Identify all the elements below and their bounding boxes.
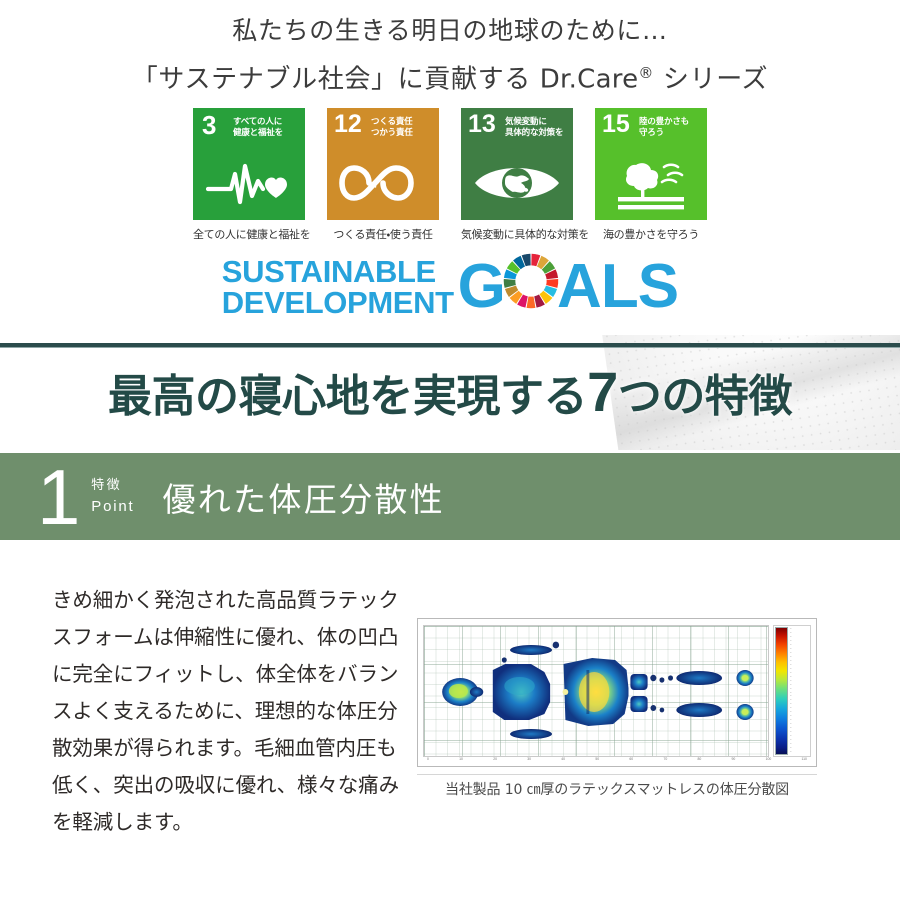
pressure-map-plot: [423, 625, 769, 757]
sdg-caption-15: 海の豊かさを守ろう: [595, 226, 707, 242]
heartbeat-icon: [193, 150, 305, 216]
tree-birds-icon: [595, 150, 707, 216]
sdg-number-13: 13: [468, 112, 496, 137]
sdg-wordmark-text: SUSTAINABLE DEVELOPMENT: [222, 256, 454, 318]
headline-band: 最高の寝心地を実現する7つの特徴: [0, 335, 900, 450]
headline-suffix: つの特徴: [618, 371, 792, 422]
sdg-tile-12: 12 つくる責任 つかう責任: [327, 108, 439, 220]
sdg-tile-3: 3 すべての人に 健康と福祉を: [193, 108, 305, 220]
header-tagline: 私たちの生きる明日の地球のために… 「サステナブル社会」に貢献する Dr.Car…: [0, 0, 900, 102]
sdg-tile-13: 13 気候変動に 具体的な対策を: [461, 108, 573, 220]
point-label-jp: 特徴: [91, 479, 134, 492]
sdg-wordmark-line-1: SUSTAINABLE: [222, 256, 454, 287]
headline-prefix: 最高の寝心地を実現する: [108, 371, 587, 422]
sdg-item-3: 3 すべての人に 健康と福祉を 全ての人に健康と福祉を: [193, 108, 305, 242]
pressure-map: ––––––––––––––––––––––––––––––––: [423, 625, 811, 757]
product-feature-page: 私たちの生きる明日の地球のために… 「サステナブル社会」に貢献する Dr.Car…: [0, 0, 900, 900]
point-banner: 1 特徴 Point 優れた体圧分散性: [0, 453, 900, 540]
sdg-wordmark: SUSTAINABLE DEVELOPMENT G ALS: [0, 252, 900, 321]
point-label-group: 特徴 Point: [91, 479, 134, 514]
sdg-title-13: 気候変動に 具体的な対策を: [505, 117, 563, 139]
page-headline: 最高の寝心地を実現する7つの特徴: [0, 361, 900, 428]
point-title: 優れた体圧分散性: [162, 473, 444, 521]
pressure-colorbar: ––––––––––––––––––––––––––––––––: [773, 625, 811, 757]
tagline-line-2-prefix: 「サステナブル社会」に貢献する: [132, 65, 540, 95]
sdg-caption-3: 全ての人に健康と福祉を: [193, 226, 305, 242]
colorbar-gradient: [775, 627, 788, 755]
sdg-item-15: 15 陸の豊かさも 守ろう 海の豊かさを: [595, 108, 707, 242]
eye-earth-icon: [461, 150, 573, 216]
headline-number: 7: [587, 360, 618, 423]
sdg-number-15: 15: [602, 112, 630, 137]
sdg-title-3: すべての人に 健康と福祉を: [233, 117, 283, 139]
point-number: 1: [37, 458, 77, 536]
sdg-icon-block: 3 すべての人に 健康と福祉を 全ての人に健康と福祉を 12 つくる責任 つかう…: [0, 108, 900, 242]
registered-trademark-icon: ®: [638, 64, 654, 82]
sdg-item-13: 13 気候変動に 具体的な対策を 気候変動に具体的な対策を: [461, 108, 573, 242]
sdg-item-12: 12 つくる責任 つかう責任 つくる責任・使う責任: [327, 108, 439, 242]
sdg-number-3: 3: [202, 112, 216, 138]
figure-caption: 当社製品 10 ㎝厚のラテックスマットレスの体圧分散図: [417, 774, 817, 804]
sdg-tile-15: 15 陸の豊かさも 守ろう: [595, 108, 707, 220]
sdg-caption-12: つくる責任・使う責任: [327, 226, 439, 242]
tagline-line-2: 「サステナブル社会」に貢献する Dr.Care® シリーズ: [0, 51, 900, 102]
sdg-goals-als: ALS: [557, 256, 678, 318]
sdg-number-12: 12: [334, 112, 362, 137]
brand-name: Dr.Care: [540, 65, 639, 95]
sdg-icon-row: 3 すべての人に 健康と福祉を 全ての人に健康と福祉を 12 つくる責任 つかう…: [193, 108, 707, 242]
body-copy: きめ細かく発泡された高品質ラテックスフォームは伸縮性に優れ、体の凹凸に完全にフィ…: [0, 560, 415, 841]
content-area: きめ細かく発泡された高品質ラテックスフォームは伸縮性に優れ、体の凹凸に完全にフィ…: [0, 560, 900, 841]
pressure-map-frame: –––––––––––––––––––––––––––––––– 0102030…: [417, 618, 817, 767]
point-label-en: Point: [91, 499, 134, 514]
sdg-wordmark-line-2: DEVELOPMENT: [222, 287, 454, 318]
pressure-map-data: [424, 626, 768, 756]
infinity-icon: [327, 150, 439, 216]
sdg-title-12: つくる責任 つかう責任: [371, 117, 413, 139]
sdg-goals-text: G ALS: [458, 252, 679, 321]
colorbar-tick-labels: ––––––––––––––––––––––––––––––––: [790, 627, 809, 755]
pressure-map-figure: –––––––––––––––––––––––––––––––– 0102030…: [417, 618, 817, 841]
sdg-color-wheel-icon: [502, 252, 560, 321]
tagline-line-2-suffix: シリーズ: [654, 65, 768, 95]
headline-divider-light: [0, 347, 900, 348]
tagline-line-1: 私たちの生きる明日の地球のために…: [0, 0, 900, 51]
sdg-title-15: 陸の豊かさも 守ろう: [639, 117, 689, 139]
sdg-caption-13: 気候変動に具体的な対策を: [461, 226, 573, 242]
pressure-map-x-axis: 0102030405060708090100110: [423, 757, 811, 766]
sdg-goals-g: G: [458, 256, 505, 318]
